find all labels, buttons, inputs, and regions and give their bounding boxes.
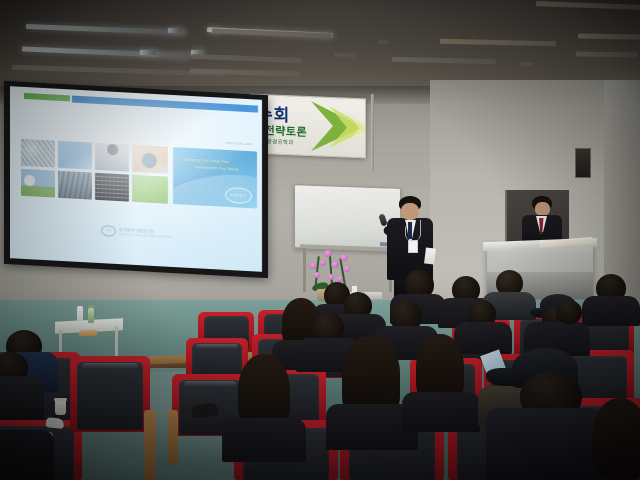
slide-tagline-panel: Delivering Your Value Plus Meeting With …: [173, 147, 257, 209]
slide-thumbnail: [132, 175, 168, 204]
beverage-bottle: [88, 308, 94, 323]
orchid-bloom: [328, 274, 334, 280]
orchid-bloom: [344, 266, 350, 272]
ceiling-vent: [145, 69, 157, 73]
presenter-name-badge: [408, 240, 418, 253]
slide-thumbnail: [58, 141, 92, 170]
presenter-face: [401, 203, 419, 220]
ceiling-vent: [520, 62, 533, 66]
slide-blue-band: [72, 96, 258, 113]
presenter-held-papers: [424, 247, 436, 264]
conference-photo: 수회 강전략토론 학교 환경공학과 www.kapec.com Deliveri…: [0, 0, 640, 480]
ceiling-vent: [334, 53, 356, 58]
slide-tagline-line1: Delivering Your Value Plus: [183, 158, 229, 164]
slide-thumbnail: [132, 145, 168, 174]
banner-chevron-icon: [307, 99, 366, 156]
slide-thumbnail: [21, 169, 55, 198]
ceiling-light-fixture: [576, 51, 638, 57]
orchid-bloom: [314, 272, 320, 278]
projection-screen-frame: www.kapec.com Delivering Your Value Plus…: [4, 81, 268, 278]
orchid-bloom: [324, 250, 332, 257]
orchid-bloom: [337, 276, 343, 282]
company-logo-icon: KTR: [101, 225, 116, 237]
orchid-bloom: [320, 260, 326, 266]
slide-thumbnail: [58, 171, 92, 200]
presenter-lanyard: [405, 220, 421, 241]
slide-green-band: [24, 93, 70, 101]
ceiling-vent: [378, 40, 388, 44]
slide-tagline-line2: Meeting With Your Needs: [195, 165, 239, 171]
orchid-bloom: [340, 254, 348, 261]
speaker-face: [535, 202, 550, 216]
paper-coffee-cup: [55, 400, 66, 415]
slide-url-text: www.kapec.com: [225, 141, 252, 146]
ceiling-light-fixture: [168, 28, 182, 33]
water-bottle: [77, 306, 83, 321]
projection-screen-surface: www.kapec.com Delivering Your Value Plus…: [10, 86, 262, 272]
orchid-bloom: [309, 262, 317, 269]
bottle-cap: [88, 305, 94, 308]
coffee-cup-lid: [54, 398, 67, 401]
slide-thumbnail: [95, 143, 129, 172]
banner-support-pole: [371, 94, 374, 172]
ceiling-light-fixture: [578, 33, 640, 39]
slide-footer: KTR 한국화학시험연구원 KOREA TESTING & RESEARCH I…: [10, 220, 262, 245]
slide-thumbnail: [21, 139, 55, 168]
ceiling-light-fixture: [140, 50, 156, 55]
slide-thumbnail: [95, 173, 129, 202]
snack-tray: [79, 330, 97, 337]
orchid-bloom: [331, 261, 339, 268]
wall-speaker-box: [575, 148, 591, 178]
